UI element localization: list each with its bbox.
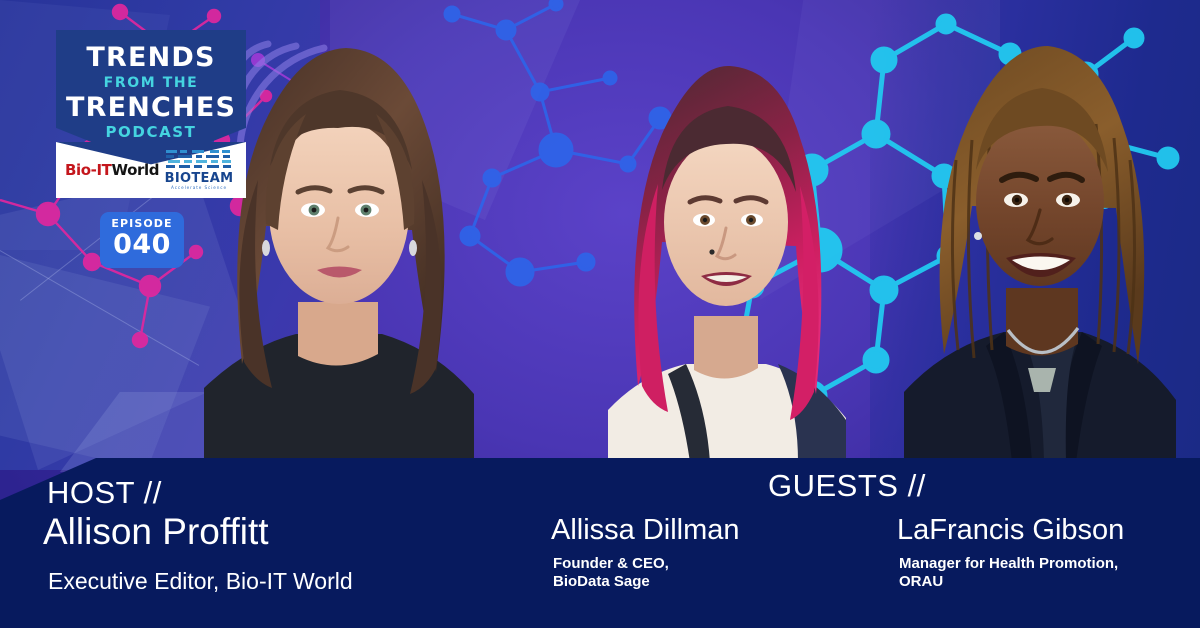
episode-number: 040 — [100, 231, 184, 259]
logo-line-from-the: FROM THE — [66, 76, 236, 90]
host-role-heading: HOST // — [47, 477, 162, 508]
bioteam-wordmark: BIOTEAM — [162, 172, 236, 185]
host-title: Executive Editor, Bio-IT World — [48, 567, 353, 595]
guest-2-portrait-photo — [900, 20, 1178, 462]
guest-2-title: Manager for Health Promotion, ORAU — [899, 555, 1118, 592]
logo-envelope: TRENDS FROM THE TRENCHES PODCAST Bio-ITW… — [56, 30, 246, 198]
logo-line-trenches: TRENCHES — [66, 94, 236, 121]
guest-2-name: LaFrancis Gibson — [897, 515, 1124, 545]
podcast-logo-block: TRENDS FROM THE TRENCHES PODCAST Bio-ITW… — [56, 30, 246, 198]
bio-it-world-logo: Bio-ITWorld — [65, 161, 159, 179]
guest-1-title: Founder & CEO, BioData Sage — [553, 555, 669, 592]
bio-it-word: Bio-IT — [65, 161, 112, 179]
bioteam-logo: BIOTEAM Accelerate Science — [162, 149, 236, 190]
podcast-promo-graphic: TRENDS FROM THE TRENCHES PODCAST Bio-ITW… — [0, 0, 1200, 628]
credits-banner: HOST // Allison Proffitt Executive Edito… — [0, 458, 1200, 628]
host-name: Allison Proffitt — [43, 513, 269, 552]
bioteam-bars-icon — [166, 149, 232, 171]
logo-partner-card: Bio-ITWorld — [56, 142, 246, 198]
bioteam-tagline: Accelerate Science — [162, 186, 236, 190]
guests-role-heading: GUESTS // — [768, 470, 926, 501]
episode-label: EPISODE — [100, 218, 184, 229]
logo-line-podcast: PODCAST — [66, 125, 236, 140]
guest-1-portrait-photo — [602, 34, 852, 462]
episode-badge: EPISODE 040 — [100, 212, 184, 268]
world-word: World — [112, 161, 160, 179]
logo-line-trends: TRENDS — [66, 44, 236, 71]
guest-1-name: Allissa Dillman — [551, 515, 740, 545]
